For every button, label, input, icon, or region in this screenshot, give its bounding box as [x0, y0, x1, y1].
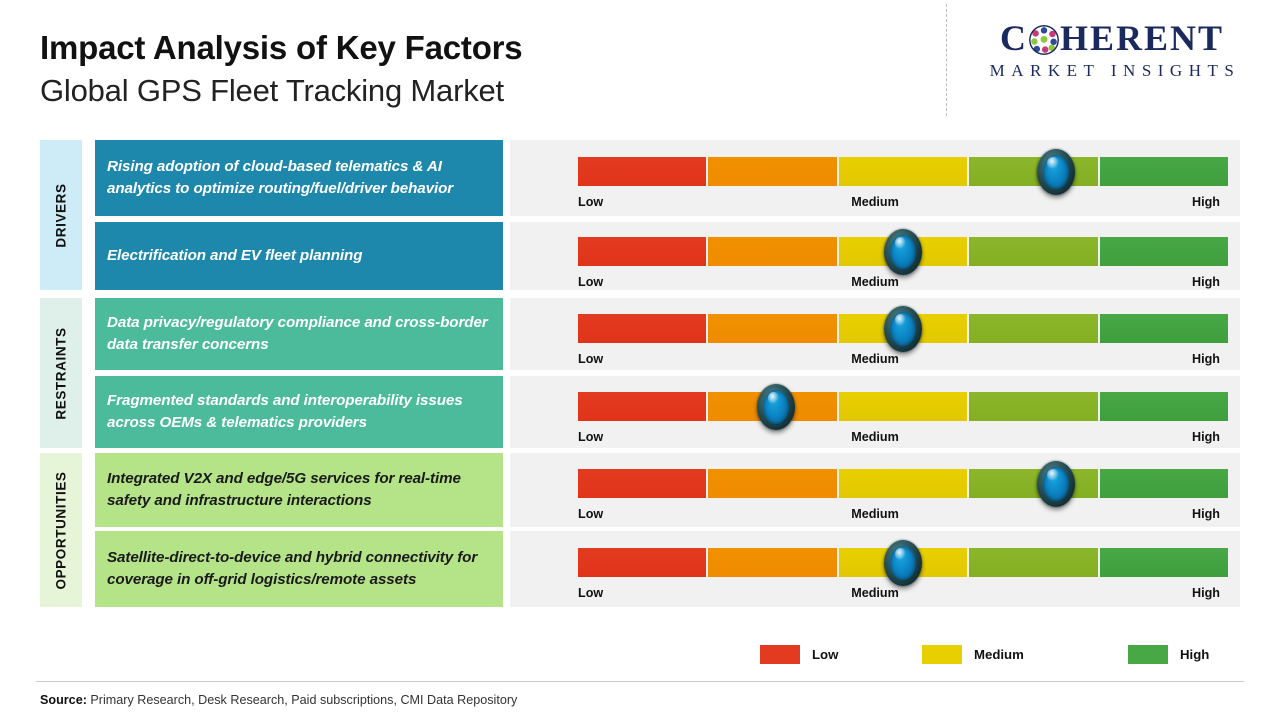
gauge-segment-4	[969, 237, 1097, 266]
factor-text: Data privacy/regulatory compliance and c…	[107, 312, 489, 356]
legend-label: Low	[812, 647, 838, 662]
gauge-segment-4	[969, 157, 1097, 186]
legend-label: High	[1180, 647, 1209, 662]
factor-box: Fragmented standards and interoperabilit…	[95, 376, 503, 448]
scale-label-medium: Medium	[510, 275, 1240, 289]
logo-divider	[946, 4, 947, 116]
scale-label-medium: Medium	[510, 507, 1240, 521]
category-strip-opportunities: OPPORTUNITIES	[40, 453, 82, 607]
impact-gauge: LowMediumHigh	[510, 140, 1240, 216]
factor-box: Integrated V2X and edge/5G services for …	[95, 453, 503, 527]
legend-swatch	[922, 645, 962, 664]
category-label: OPPORTUNITIES	[40, 453, 82, 607]
gauge-segment-5	[1100, 469, 1228, 498]
logo-wordmark: C HERENT	[962, 20, 1262, 56]
factor-box: Satellite-direct-to-device and hybrid co…	[95, 531, 503, 607]
factor-text: Rising adoption of cloud-based telematic…	[107, 156, 489, 200]
legend-item-low: Low	[760, 645, 838, 664]
gauge-segment-2	[708, 237, 836, 266]
gauge-segment-5	[1100, 314, 1228, 343]
page-title: Impact Analysis of Key Factors	[40, 30, 522, 67]
page-subtitle: Global GPS Fleet Tracking Market	[40, 72, 522, 109]
gauge-segment-2	[708, 548, 836, 577]
gauge-segment-3	[839, 157, 967, 186]
gauge-segment-1	[578, 469, 706, 498]
footer-divider	[36, 681, 1244, 682]
gauge-segment-3	[839, 392, 967, 421]
gauge-segment-3	[839, 469, 967, 498]
gauge-segment-4	[969, 469, 1097, 498]
gauge-segment-2	[708, 469, 836, 498]
gauge-track	[578, 314, 1228, 343]
category-strip-drivers: DRIVERS	[40, 140, 82, 290]
gauge-track	[578, 392, 1228, 421]
factor-text: Fragmented standards and interoperabilit…	[107, 390, 489, 434]
category-label: RESTRAINTS	[40, 298, 82, 448]
gauge-track	[578, 469, 1228, 498]
gauge-segment-4	[969, 392, 1097, 421]
scale-label-medium: Medium	[510, 586, 1240, 600]
title-block: Impact Analysis of Key Factors Global GP…	[40, 30, 522, 109]
logo-letter-c: C	[1000, 20, 1028, 56]
source-label: Source:	[40, 693, 87, 707]
gauge-segment-5	[1100, 237, 1228, 266]
impact-gauge: LowMediumHigh	[510, 376, 1240, 448]
gauge-segment-2	[708, 314, 836, 343]
legend-swatch	[1128, 645, 1168, 664]
scale-label-high: High	[1192, 507, 1220, 521]
company-logo: C HERENT MARKET INSIGHTS	[962, 20, 1262, 81]
factor-box: Electrification and EV fleet planning	[95, 222, 503, 290]
category-label: DRIVERS	[40, 140, 82, 290]
category-strip-restraints: RESTRAINTS	[40, 298, 82, 448]
gauge-segment-4	[969, 548, 1097, 577]
gauge-segment-1	[578, 548, 706, 577]
scale-label-high: High	[1192, 275, 1220, 289]
source-note: Source: Primary Research, Desk Research,…	[40, 693, 517, 707]
gauge-segment-4	[969, 314, 1097, 343]
gauge-segment-5	[1100, 392, 1228, 421]
gauge-segment-3	[839, 548, 967, 577]
scale-label-medium: Medium	[510, 430, 1240, 444]
legend-swatch	[760, 645, 800, 664]
scale-label-high: High	[1192, 586, 1220, 600]
gauge-segment-2	[708, 392, 836, 421]
gauge-segment-3	[839, 314, 967, 343]
gauge-track	[578, 157, 1228, 186]
logo-letters-herent: HERENT	[1060, 20, 1224, 56]
scale-label-high: High	[1192, 430, 1220, 444]
factor-box: Data privacy/regulatory compliance and c…	[95, 298, 503, 370]
gauge-segment-1	[578, 237, 706, 266]
legend-item-medium: Medium	[922, 645, 1024, 664]
factor-text: Integrated V2X and edge/5G services for …	[107, 468, 489, 512]
impact-gauge: LowMediumHigh	[510, 298, 1240, 370]
gauge-segment-1	[578, 392, 706, 421]
scale-label-high: High	[1192, 352, 1220, 366]
legend: LowMediumHigh	[760, 645, 1200, 669]
gauge-segment-2	[708, 157, 836, 186]
scale-label-high: High	[1192, 195, 1220, 209]
factor-box: Rising adoption of cloud-based telematic…	[95, 140, 503, 216]
scale-label-medium: Medium	[510, 352, 1240, 366]
gauge-segment-1	[578, 314, 706, 343]
impact-gauge: LowMediumHigh	[510, 531, 1240, 607]
dotted-globe-icon	[1029, 25, 1059, 55]
gauge-segment-3	[839, 237, 967, 266]
gauge-segment-5	[1100, 157, 1228, 186]
factor-text: Electrification and EV fleet planning	[107, 245, 362, 267]
gauge-segment-5	[1100, 548, 1228, 577]
legend-item-high: High	[1128, 645, 1209, 664]
logo-tagline: MARKET INSIGHTS	[962, 61, 1262, 81]
gauge-segment-1	[578, 157, 706, 186]
factor-text: Satellite-direct-to-device and hybrid co…	[107, 547, 489, 591]
impact-gauge: LowMediumHigh	[510, 222, 1240, 290]
scale-label-medium: Medium	[510, 195, 1240, 209]
source-text: Primary Research, Desk Research, Paid su…	[87, 693, 517, 707]
gauge-track	[578, 237, 1228, 266]
infographic-page: Impact Analysis of Key Factors Global GP…	[0, 0, 1280, 720]
impact-gauge: LowMediumHigh	[510, 453, 1240, 527]
gauge-track	[578, 548, 1228, 577]
legend-label: Medium	[974, 647, 1024, 662]
